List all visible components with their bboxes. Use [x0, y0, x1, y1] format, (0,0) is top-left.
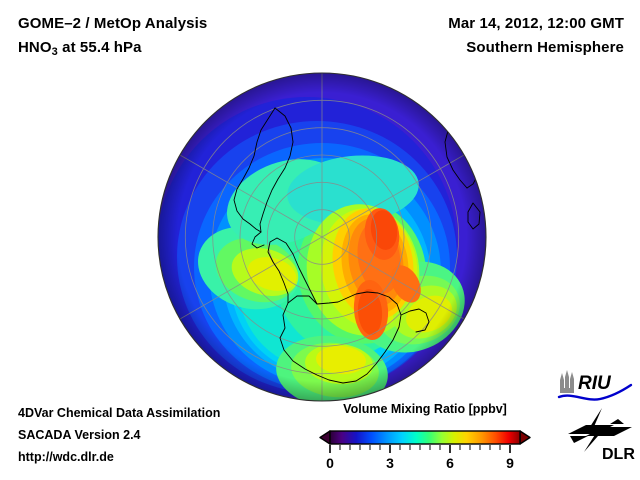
species-label-prefix: HNO: [18, 39, 52, 56]
dlr-logo-text: DLR: [602, 446, 635, 463]
header-left: GOME–2 / MetOp Analysis HNO3 at 55.4 hPa: [18, 12, 207, 64]
header-right: Mar 14, 2012, 12:00 GMT Southern Hemisph…: [448, 12, 624, 60]
colorbar-title: Volume Mixing Ratio [ppbv]: [312, 401, 538, 417]
colorbar-ticks: [330, 445, 510, 453]
footer-line-method: 4DVar Chemical Data Assimilation: [18, 402, 220, 424]
colorbar-tick-label: 0: [326, 455, 334, 471]
footer-line-version: SACADA Version 2.4: [18, 424, 220, 446]
riu-logo: RIU: [556, 368, 636, 404]
riu-logo-text: RIU: [578, 373, 612, 394]
timestamp-label: Mar 14, 2012, 12:00 GMT: [448, 12, 624, 36]
globe-svg: [157, 72, 487, 402]
colorbar-tick-label: 3: [386, 455, 394, 471]
orthographic-globe-map: [157, 72, 487, 402]
colorbar-tick-labels: 0 3 6 9: [326, 455, 514, 471]
dlr-logo: DLR: [562, 406, 638, 464]
figure-canvas: GOME–2 / MetOp Analysis HNO3 at 55.4 hPa…: [0, 0, 640, 480]
globe-limb-shading: [158, 73, 486, 401]
colorbar-block: Volume Mixing Ratio [ppbv]: [312, 401, 538, 471]
colorbar-svg: 0 3 6 9: [312, 421, 538, 471]
footer-credits: 4DVar Chemical Data Assimilation SACADA …: [18, 402, 220, 468]
riu-logo-svg: RIU: [556, 368, 636, 404]
riu-tower-icon: [560, 370, 574, 393]
species-pressure-label: HNO3 at 55.4 hPa: [18, 36, 207, 64]
hemisphere-label: Southern Hemisphere: [448, 36, 624, 60]
species-label-suffix: at 55.4 hPa: [58, 39, 142, 56]
colorbar-extend-low-arrow: [320, 431, 330, 444]
page-title: GOME–2 / MetOp Analysis: [18, 12, 207, 36]
footer-line-url[interactable]: http://wdc.dlr.de: [18, 446, 220, 468]
dlr-logo-svg: DLR: [562, 406, 638, 464]
colorbar-extend-high-arrow: [520, 431, 530, 444]
colorbar-tick-label: 9: [506, 455, 514, 471]
colorbar-tick-label: 6: [446, 455, 454, 471]
colorbar-gradient: [330, 431, 520, 444]
